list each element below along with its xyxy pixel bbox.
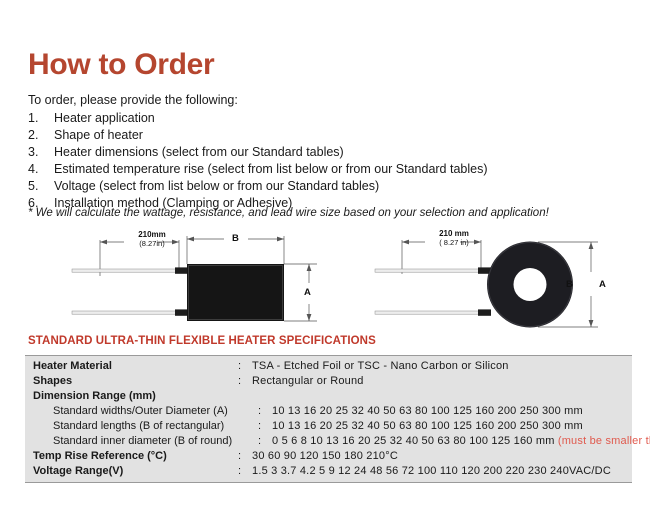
- row-value-warning: (must be smaller than A): [558, 435, 650, 447]
- table-row: Temp Rise Reference (°C) : 30 60 90 120 …: [25, 449, 632, 464]
- list-item-number: 1.: [28, 110, 54, 127]
- order-steps-list: 1. Heater application 2. Shape of heater…: [28, 110, 628, 212]
- list-item-label: Voltage (select from list below or from …: [54, 178, 628, 195]
- row-colon: :: [238, 359, 252, 374]
- row-label: Standard lengths (B of rectangular): [25, 419, 258, 434]
- round-heater-diagram: 210 mm ( 8.27 in) B A: [370, 228, 635, 333]
- round-lead-length-label: 210 mm ( 8.27 in): [423, 229, 485, 247]
- list-item-label: Heater dimensions (select from our Stand…: [54, 144, 628, 161]
- rect-height-label-a: A: [304, 287, 311, 298]
- row-label: Dimension Range (mm): [25, 389, 238, 404]
- row-label: Voltage Range(V): [25, 464, 238, 479]
- list-item-label: Shape of heater: [54, 127, 628, 144]
- row-value: TSA - Etched Foil or TSC - Nano Carbon o…: [252, 359, 632, 374]
- rect-lead-length-mm: 210mm: [138, 230, 166, 239]
- row-colon: :: [258, 404, 272, 419]
- spec-section-heading: STANDARD ULTRA-THIN FLEXIBLE HEATER SPEC…: [28, 335, 376, 347]
- round-heater-drawing: [370, 228, 635, 333]
- row-label: Shapes: [25, 374, 238, 389]
- round-outer-label-a: A: [599, 279, 606, 290]
- specifications-table: Heater Material : TSA - Etched Foil or T…: [25, 355, 632, 483]
- row-value: Rectangular or Round: [252, 374, 632, 389]
- row-label: Standard widths/Outer Diameter (A): [25, 404, 258, 419]
- row-value: 0 5 6 8 10 13 16 20 25 32 40 50 63 80 10…: [272, 434, 650, 449]
- list-item-label: Heater application: [54, 110, 628, 127]
- row-colon: :: [238, 374, 252, 389]
- table-row: Voltage Range(V) : 1.5 3 3.7 4.2 5 9 12 …: [25, 464, 632, 479]
- row-value: 1.5 3 3.7 4.2 5 9 12 24 48 56 72 100 110…: [252, 464, 632, 479]
- list-item: 5. Voltage (select from list below or fr…: [28, 178, 628, 195]
- row-label: Standard inner diameter (B of round): [25, 434, 258, 449]
- table-row: Shapes : Rectangular or Round: [25, 374, 632, 389]
- list-item-label: Estimated temperature rise (select from …: [54, 161, 628, 178]
- table-row: Dimension Range (mm): [25, 389, 632, 404]
- row-value: 10 13 16 20 25 32 40 50 63 80 100 125 16…: [272, 419, 632, 434]
- list-item-number: 5.: [28, 178, 54, 195]
- rectangular-heater-diagram: 210mm (8.27in) B A: [62, 228, 332, 333]
- row-label: Temp Rise Reference (°C): [25, 449, 238, 464]
- list-item-number: 2.: [28, 127, 54, 144]
- intro-text: To order, please provide the following:: [28, 93, 238, 108]
- table-row: Standard lengths (B of rectangular) : 10…: [25, 419, 632, 434]
- row-value-text: 0 5 6 8 10 13 16 20 25 32 40 50 63 80 10…: [272, 435, 558, 447]
- row-label: Heater Material: [25, 359, 238, 374]
- list-item-number: 3.: [28, 144, 54, 161]
- list-item: 4. Estimated temperature rise (select fr…: [28, 161, 628, 178]
- row-value: 30 60 90 120 150 180 210°C: [252, 449, 632, 464]
- round-inner-label-b: B: [566, 279, 573, 290]
- table-row: Heater Material : TSA - Etched Foil or T…: [25, 359, 632, 374]
- round-lead-length-in: ( 8.27 in): [423, 238, 485, 247]
- row-colon: :: [258, 434, 272, 449]
- list-item: 2. Shape of heater: [28, 127, 628, 144]
- row-colon: :: [238, 449, 252, 464]
- row-value: 10 13 16 20 25 32 40 50 63 80 100 125 16…: [272, 404, 632, 419]
- rect-lead-length-in: (8.27in): [122, 239, 182, 248]
- row-colon: :: [258, 419, 272, 434]
- round-lead-length-mm: 210 mm: [439, 229, 469, 238]
- product-diagrams: 210mm (8.27in) B A: [0, 228, 650, 333]
- row-colon: :: [238, 464, 252, 479]
- rect-width-label-b: B: [232, 233, 239, 244]
- rect-lead-length-label: 210mm (8.27in): [122, 230, 182, 248]
- table-row: Standard inner diameter (B of round) : 0…: [25, 434, 632, 449]
- list-item: 1. Heater application: [28, 110, 628, 127]
- list-item-number: 4.: [28, 161, 54, 178]
- table-row: Standard widths/Outer Diameter (A) : 10 …: [25, 404, 632, 419]
- list-item: 3. Heater dimensions (select from our St…: [28, 144, 628, 161]
- rectangular-heater-drawing: [62, 228, 332, 333]
- calculation-note: * We will calculate the wattage, resista…: [28, 206, 549, 220]
- page-title: How to Order: [28, 50, 214, 80]
